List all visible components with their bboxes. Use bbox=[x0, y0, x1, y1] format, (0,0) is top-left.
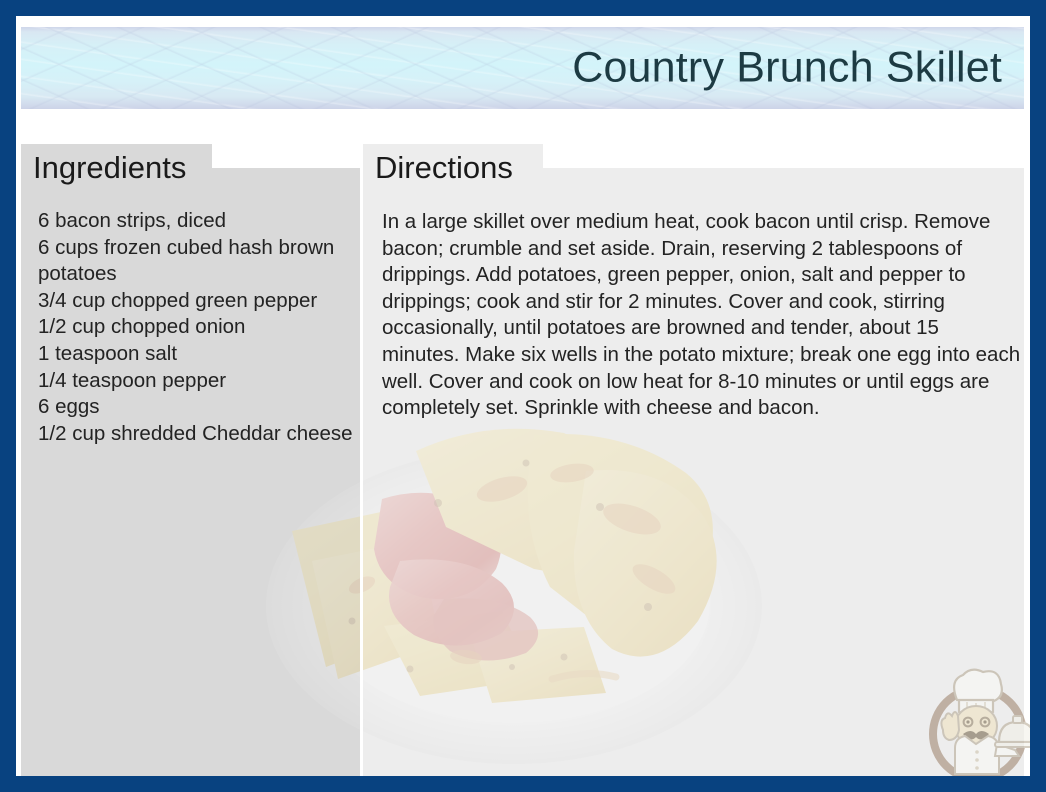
directions-body: In a large skillet over medium heat, coo… bbox=[382, 209, 1022, 422]
list-item: 3/4 cup chopped green pepper bbox=[38, 288, 358, 315]
list-item: 1/4 teaspoon pepper bbox=[38, 368, 358, 395]
tab-ingredients[interactable]: Ingredients bbox=[21, 144, 212, 186]
page-title: Country Brunch Skillet bbox=[572, 47, 1002, 90]
recipe-slide: Country Brunch Skillet bbox=[0, 0, 1046, 792]
list-item: 6 bacon strips, diced bbox=[38, 208, 358, 235]
list-item: 1 teaspoon salt bbox=[38, 341, 358, 368]
panel-divider bbox=[360, 168, 363, 786]
list-item: 1/2 cup chopped onion bbox=[38, 314, 358, 341]
ingredients-list: 6 bacon strips, diced 6 cups frozen cube… bbox=[38, 208, 358, 447]
list-item: 6 eggs bbox=[38, 394, 358, 421]
list-item: 6 cups frozen cubed hash brown potatoes bbox=[38, 235, 358, 288]
tab-directions[interactable]: Directions bbox=[363, 144, 543, 186]
header-banner: Country Brunch Skillet bbox=[21, 27, 1024, 109]
list-item: 1/2 cup shredded Cheddar cheese bbox=[38, 421, 358, 448]
